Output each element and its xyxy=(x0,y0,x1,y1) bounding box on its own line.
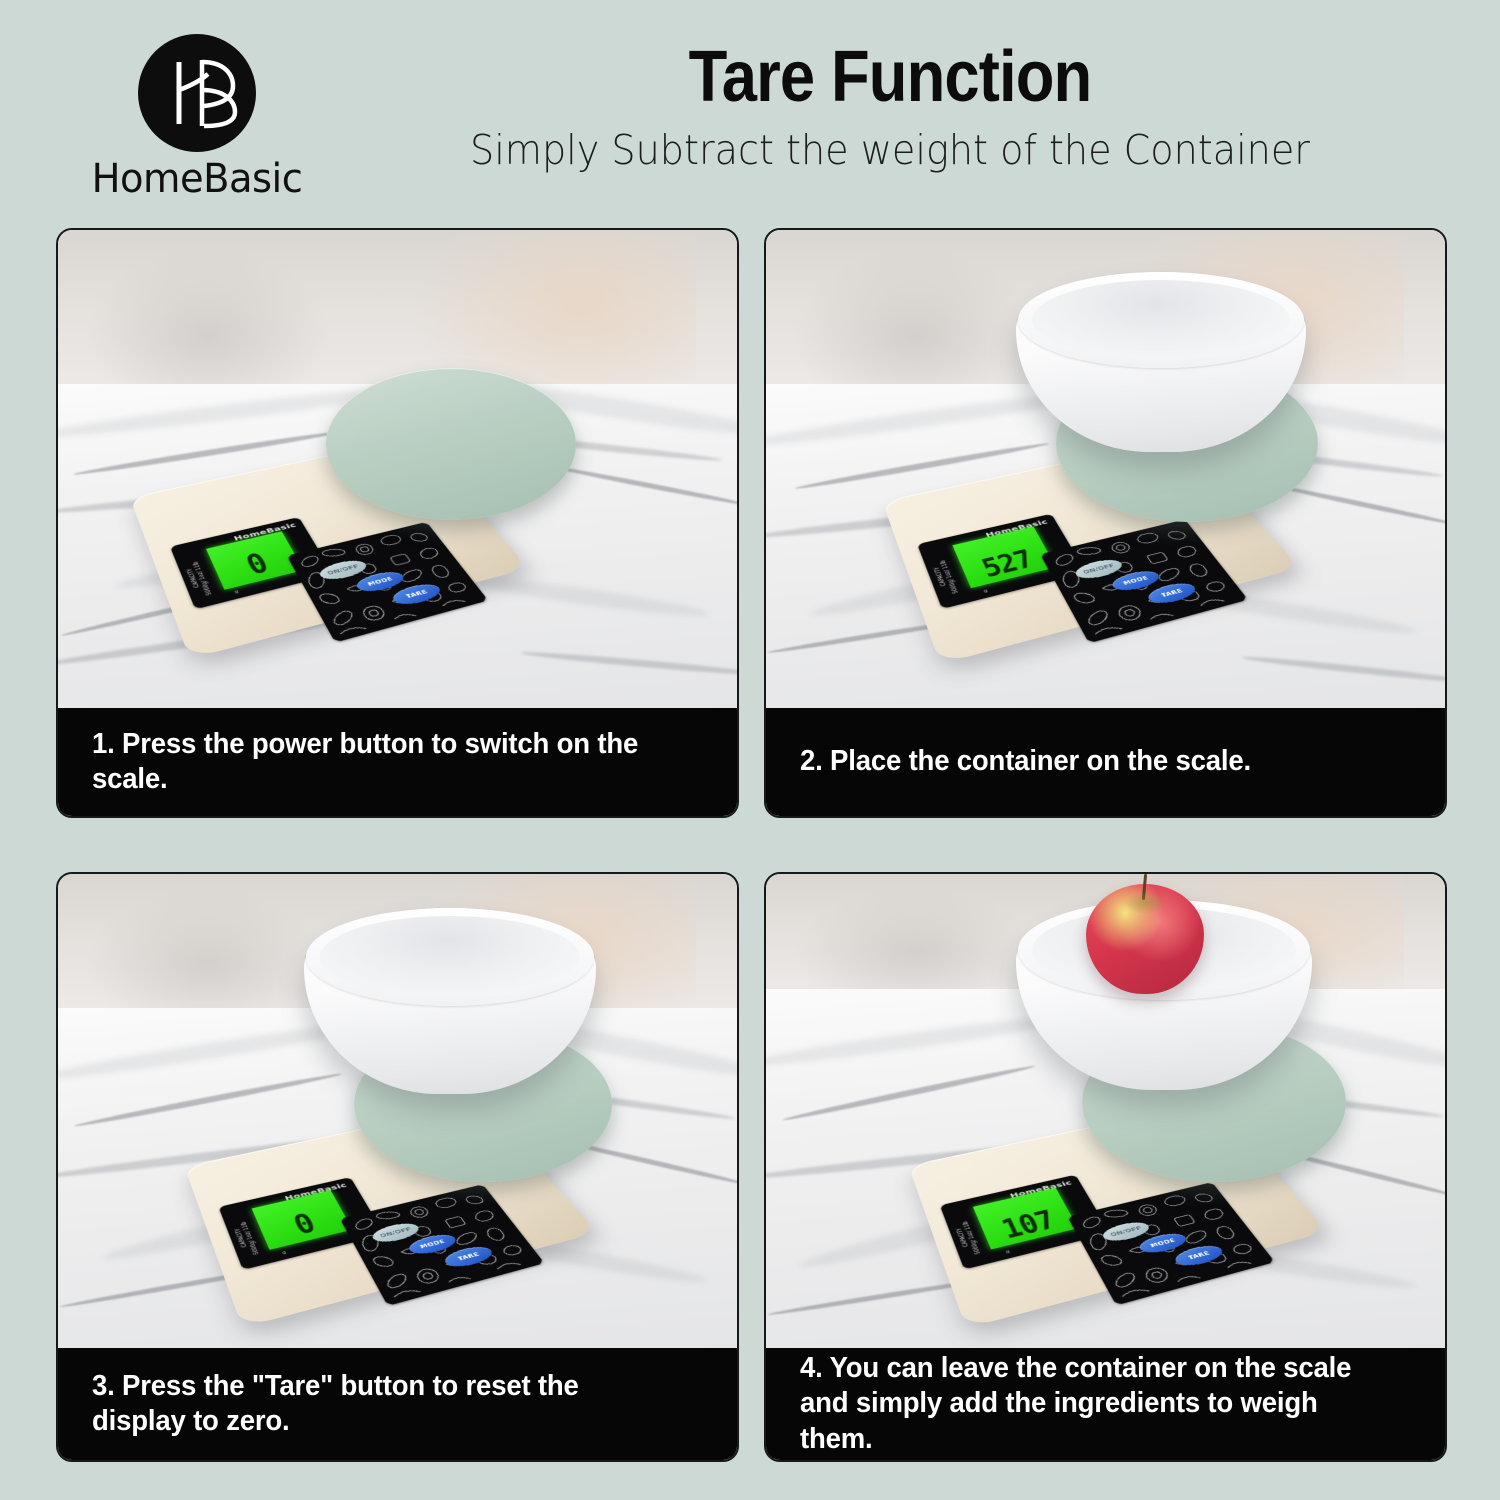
tare-button[interactable]: TARE xyxy=(441,1243,496,1270)
lcd-brand-label: HomeBasic xyxy=(985,519,1050,539)
lcd-capacity-label: CAPACITY xyxy=(933,566,949,587)
food-doodle-pattern xyxy=(287,522,488,643)
lcd-capacity-note: 5000g/ 1oz/ 11lb xyxy=(240,1221,262,1256)
tare-button[interactable]: TARE xyxy=(1171,1242,1226,1269)
mode-button[interactable]: MODE xyxy=(353,569,408,595)
lcd-display-value: 527 xyxy=(978,547,1038,584)
step-caption-bar-1: 1. Press the power button to switch on t… xyxy=(58,708,737,816)
lcd-module: HomeBasic CAPACITY 5000g/ 1oz/ 11lb 527 … xyxy=(917,514,1086,609)
lcd-display-value: 0 xyxy=(290,1211,320,1242)
lcd-display-value: 0 xyxy=(242,550,273,582)
keypad-panel[interactable]: ON/OFF MODE TARE xyxy=(287,522,488,643)
lcd-module: HomeBasic CAPACITY 5000g/ 1oz/ 11lb 0 g xyxy=(170,517,334,609)
step-panel-3: HomeBasic CAPACITY 5000g/ 1oz/ 11lb 0 g xyxy=(56,872,739,1462)
lcd-capacity-label: CAPACITY xyxy=(186,568,202,589)
lcd-unit-label: g xyxy=(983,589,988,594)
keypad-panel[interactable]: ON/OFF MODE TARE xyxy=(1040,519,1248,643)
step-photo-2: HomeBasic CAPACITY 5000g/ 1oz/ 11lb 527 … xyxy=(766,230,1445,712)
bowl-interior xyxy=(320,916,580,998)
mode-button[interactable]: MODE xyxy=(405,1231,459,1257)
lcd-screen: 0 xyxy=(252,1190,353,1250)
lcd-display-value: 107 xyxy=(998,1207,1060,1245)
step-caption-bar-3: 3. Press the "Tare" button to reset the … xyxy=(58,1348,737,1460)
kitchen-scale-1: HomeBasic CAPACITY 5000g/ 1oz/ 11lb 0 g xyxy=(154,406,484,656)
kitchen-scale-4: HomeBasic CAPACITY 5000g/ 1oz/ 11lb 107 … xyxy=(932,1072,1284,1322)
kitchen-scale-3: HomeBasic CAPACITY 5000g/ 1oz/ 11lb 0 g xyxy=(208,1074,554,1322)
food-doodle-pattern xyxy=(340,1184,545,1306)
step-caption-text: 4. You can leave the container on the sc… xyxy=(800,1351,1380,1457)
food-doodle-pattern xyxy=(1067,1182,1274,1305)
step-caption-bar-2: 2. Place the container on the scale. xyxy=(766,708,1445,816)
steps-grid: HomeBasic CAPACITY 5000g/ 1oz/ 11lb 0 g xyxy=(0,0,1500,1500)
keypad-panel[interactable]: ON/OFF MODE TARE xyxy=(1067,1182,1274,1305)
lcd-brand-label: HomeBasic xyxy=(233,522,298,543)
lcd-screen: 107 xyxy=(973,1188,1078,1250)
lcd-unit-label: g xyxy=(1005,1250,1010,1255)
lcd-capacity-label: CAPACITY xyxy=(955,1227,971,1248)
step-caption-text: 2. Place the container on the scale. xyxy=(800,744,1251,779)
step-photo-1: HomeBasic CAPACITY 5000g/ 1oz/ 11lb 0 g xyxy=(58,230,737,712)
bowl-interior xyxy=(1032,280,1290,360)
lcd-capacity-label: CAPACITY xyxy=(234,1228,250,1248)
step-photo-3: HomeBasic CAPACITY 5000g/ 1oz/ 11lb 0 g xyxy=(58,874,737,1352)
mode-button[interactable]: MODE xyxy=(1109,568,1163,594)
lcd-capacity-note: 5000g/ 1oz/ 11lb xyxy=(192,561,215,596)
step-photo-4: HomeBasic CAPACITY 5000g/ 1oz/ 11lb 107 … xyxy=(766,874,1445,1352)
power-button[interactable]: ON/OFF xyxy=(1099,1219,1152,1244)
tare-button[interactable]: TARE xyxy=(1144,580,1200,607)
lcd-capacity-note: 5000g/ 1oz/ 11lb xyxy=(939,559,961,594)
lcd-capacity-note: 5000g/ 1oz/ 11lb xyxy=(962,1220,984,1255)
white-bowl xyxy=(1016,272,1306,452)
apple xyxy=(1086,884,1204,994)
power-button[interactable]: ON/OFF xyxy=(1072,557,1125,582)
white-bowl xyxy=(304,908,596,1094)
step-panel-1: HomeBasic CAPACITY 5000g/ 1oz/ 11lb 0 g xyxy=(56,228,739,818)
lcd-brand-label: HomeBasic xyxy=(284,1182,349,1202)
mode-button[interactable]: MODE xyxy=(1136,1230,1190,1256)
step-panel-2: HomeBasic CAPACITY 5000g/ 1oz/ 11lb 527 … xyxy=(764,228,1447,818)
lcd-screen: 527 xyxy=(952,527,1056,589)
keypad-panel[interactable]: ON/OFF MODE TARE xyxy=(340,1184,545,1306)
lcd-module: HomeBasic CAPACITY 5000g/ 1oz/ 11lb 107 … xyxy=(940,1175,1111,1270)
weighing-platform xyxy=(326,368,576,520)
step-caption-text: 3. Press the "Tare" button to reset the … xyxy=(92,1369,672,1440)
step-panel-4: HomeBasic CAPACITY 5000g/ 1oz/ 11lb 107 … xyxy=(764,872,1447,1462)
lcd-unit-label: g xyxy=(234,590,239,595)
apple-stem-dimple xyxy=(1124,892,1168,914)
step-caption-bar-4: 4. You can leave the container on the sc… xyxy=(766,1348,1445,1460)
tare-button[interactable]: TARE xyxy=(389,581,445,608)
lcd-unit-label: g xyxy=(282,1250,287,1255)
food-doodle-pattern xyxy=(1040,519,1248,643)
step-caption-text: 1. Press the power button to switch on t… xyxy=(92,727,672,798)
